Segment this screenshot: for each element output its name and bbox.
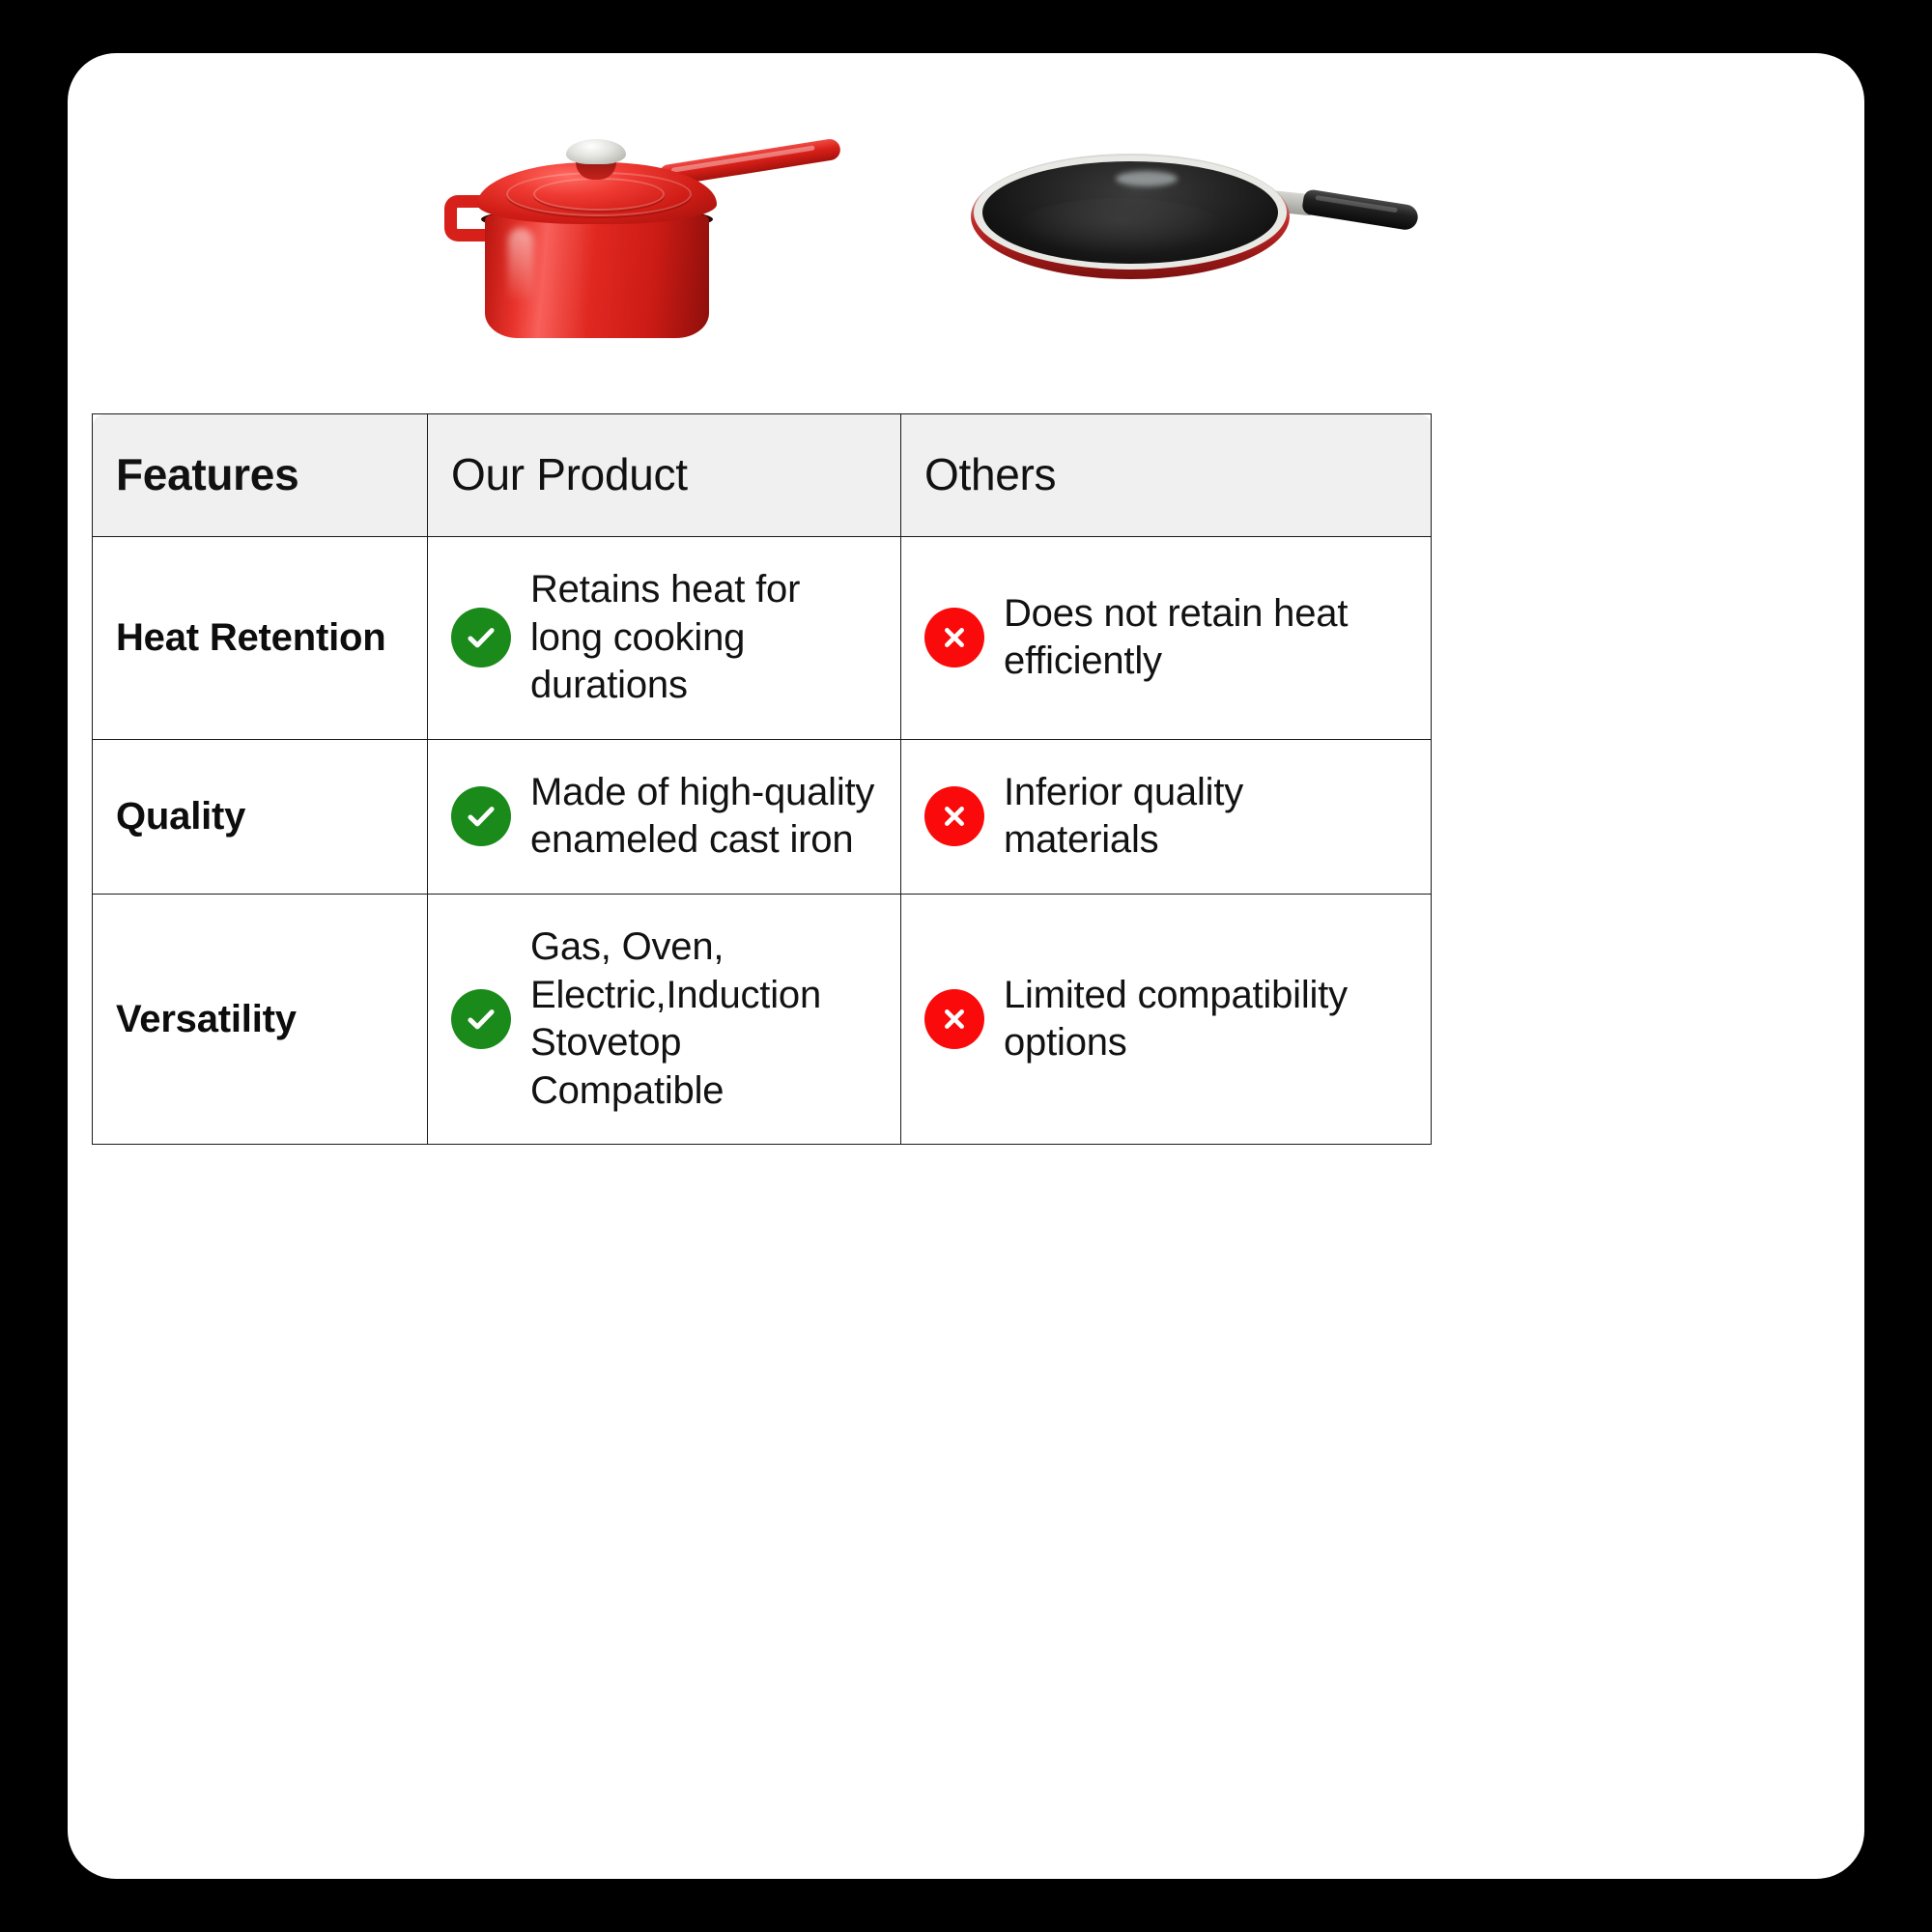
column-header-others: Others <box>901 414 1432 537</box>
check-circle-icon <box>451 608 511 668</box>
others-text: Inferior quality materials <box>1004 769 1407 865</box>
column-header-features-label: Features <box>116 449 298 499</box>
column-header-features: Features <box>93 414 428 537</box>
column-header-our-product-label: Our Product <box>451 449 688 499</box>
product-image-row <box>68 53 1864 401</box>
saucepan-knob <box>566 139 626 164</box>
feature-label: Quality <box>116 790 404 843</box>
table-header: Features Our Product Others <box>93 414 1432 537</box>
column-header-our-product: Our Product <box>428 414 901 537</box>
frying-pan-base-shading <box>1019 198 1222 254</box>
frying-pan-handle <box>1301 188 1420 231</box>
cell-feature-heat-retention: Heat Retention <box>93 537 428 740</box>
frying-pan-highlight <box>1116 171 1178 186</box>
cell-others-quality: Inferior quality materials <box>901 739 1432 894</box>
cell-others-heat-retention: Does not retain heat efficiently <box>901 537 1432 740</box>
comparison-table: Features Our Product Others <box>92 413 1432 1145</box>
page-root: Features Our Product Others <box>0 0 1932 1932</box>
check-circle-icon <box>451 786 511 846</box>
frying-pan-image <box>971 140 1396 314</box>
check-circle-icon <box>451 989 511 1049</box>
red-saucepan-image <box>435 126 840 353</box>
x-circle-icon <box>924 608 984 668</box>
x-circle-icon <box>924 989 984 1049</box>
cell-others-versatility: Limited compatibility options <box>901 894 1432 1144</box>
feature-label: Versatility <box>116 993 404 1046</box>
column-header-others-label: Others <box>924 449 1056 499</box>
our-product-text: Gas, Oven, Electric,Induction Stovetop C… <box>530 923 877 1115</box>
x-circle-icon <box>924 786 984 846</box>
cell-feature-quality: Quality <box>93 739 428 894</box>
cell-our-product-heat-retention: Retains heat for long cooking durations <box>428 537 901 740</box>
cell-feature-versatility: Versatility <box>93 894 428 1144</box>
table-body: Heat Retention Retains heat for long coo… <box>93 537 1432 1145</box>
table-header-row: Features Our Product Others <box>93 414 1432 537</box>
table-row: Heat Retention Retains heat for long coo… <box>93 537 1432 740</box>
saucepan-body <box>485 214 709 338</box>
table-row: Versatility Gas, Oven, Electric,Inductio… <box>93 894 1432 1144</box>
our-product-text: Retains heat for long cooking durations <box>530 566 877 710</box>
feature-label: Heat Retention <box>116 611 404 665</box>
comparison-table-wrapper: Features Our Product Others <box>92 413 1431 1145</box>
others-text: Limited compatibility options <box>1004 972 1407 1067</box>
our-product-text: Made of high-quality enameled cast iron <box>530 769 877 865</box>
table-row: Quality Made of high-quality enameled ca… <box>93 739 1432 894</box>
saucepan-lid-ring-inner <box>533 178 665 211</box>
others-text: Does not retain heat efficiently <box>1004 590 1407 686</box>
cell-our-product-quality: Made of high-quality enameled cast iron <box>428 739 901 894</box>
comparison-card: Features Our Product Others <box>68 53 1864 1879</box>
cell-our-product-versatility: Gas, Oven, Electric,Induction Stovetop C… <box>428 894 901 1144</box>
